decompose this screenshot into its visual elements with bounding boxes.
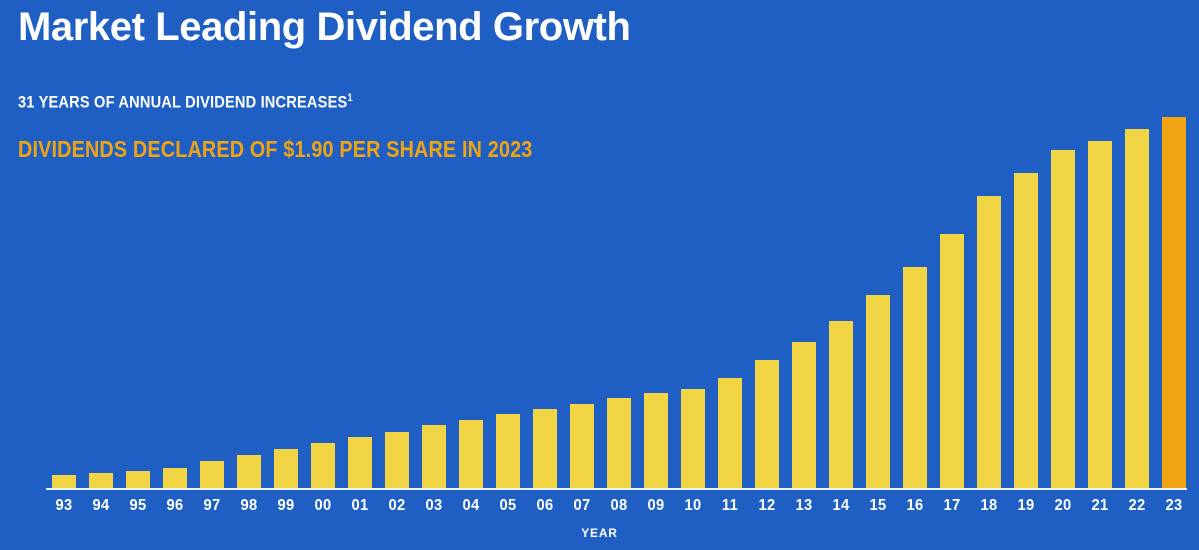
x-tick-23: 23 xyxy=(1163,496,1185,516)
x-tick-16: 16 xyxy=(904,496,926,516)
bar-02 xyxy=(385,432,409,488)
x-tick-14: 14 xyxy=(830,496,852,516)
x-tick-11: 11 xyxy=(719,496,741,516)
bar-96 xyxy=(163,468,187,488)
x-tick-05: 05 xyxy=(497,496,519,516)
x-tick-19: 19 xyxy=(1015,496,1037,516)
bar-98 xyxy=(237,455,261,488)
bar-94 xyxy=(89,473,113,488)
x-tick-22: 22 xyxy=(1126,496,1148,516)
x-tick-96: 96 xyxy=(164,496,186,516)
bar-15 xyxy=(866,295,890,488)
bar-09 xyxy=(644,393,668,488)
x-tick-95: 95 xyxy=(127,496,149,516)
x-tick-04: 04 xyxy=(460,496,482,516)
slide-root: Market Leading Dividend Growth 31 YEARS … xyxy=(0,0,1199,550)
bar-95 xyxy=(126,471,150,488)
bar-04 xyxy=(459,420,483,488)
bar-10 xyxy=(681,389,705,488)
x-tick-17: 17 xyxy=(941,496,963,516)
x-tick-09: 09 xyxy=(645,496,667,516)
bar-14 xyxy=(829,321,853,488)
bar-17 xyxy=(940,234,964,488)
x-tick-15: 15 xyxy=(867,496,889,516)
bar-07 xyxy=(570,404,594,488)
x-tick-98: 98 xyxy=(238,496,260,516)
bar-18 xyxy=(977,196,1001,488)
bar-16 xyxy=(903,267,927,488)
bar-08 xyxy=(607,398,631,488)
x-tick-03: 03 xyxy=(423,496,445,516)
bar-97 xyxy=(200,461,224,488)
x-tick-06: 06 xyxy=(534,496,556,516)
x-tick-12: 12 xyxy=(756,496,778,516)
bar-13 xyxy=(792,342,816,488)
x-tick-08: 08 xyxy=(608,496,630,516)
bar-21 xyxy=(1088,141,1112,488)
x-tick-10: 10 xyxy=(682,496,704,516)
bar-93 xyxy=(52,475,76,488)
bar-00 xyxy=(311,443,335,488)
x-tick-00: 00 xyxy=(312,496,334,516)
x-tick-97: 97 xyxy=(201,496,223,516)
x-tick-13: 13 xyxy=(793,496,815,516)
x-tick-93: 93 xyxy=(53,496,75,516)
x-tick-20: 20 xyxy=(1052,496,1074,516)
bar-19 xyxy=(1014,173,1038,488)
bar-05 xyxy=(496,414,520,488)
bar-12 xyxy=(755,360,779,488)
bar-03 xyxy=(422,425,446,488)
x-axis-title: YEAR xyxy=(0,526,1199,540)
x-tick-99: 99 xyxy=(275,496,297,516)
bar-22 xyxy=(1125,129,1149,488)
bar-06 xyxy=(533,409,557,488)
x-tick-07: 07 xyxy=(571,496,593,516)
bar-99 xyxy=(274,449,298,488)
x-tick-94: 94 xyxy=(90,496,112,516)
x-axis-baseline xyxy=(46,488,1187,490)
chart-plot-area xyxy=(46,100,1187,488)
dividend-growth-bar-chart: 9394959697989900010203040506070809101112… xyxy=(0,0,1199,550)
bar-11 xyxy=(718,378,742,488)
bar-23 xyxy=(1162,117,1186,488)
bar-01 xyxy=(348,437,372,488)
x-tick-01: 01 xyxy=(349,496,371,516)
bar-20 xyxy=(1051,150,1075,488)
x-tick-21: 21 xyxy=(1089,496,1111,516)
x-tick-18: 18 xyxy=(978,496,1000,516)
x-tick-02: 02 xyxy=(386,496,408,516)
